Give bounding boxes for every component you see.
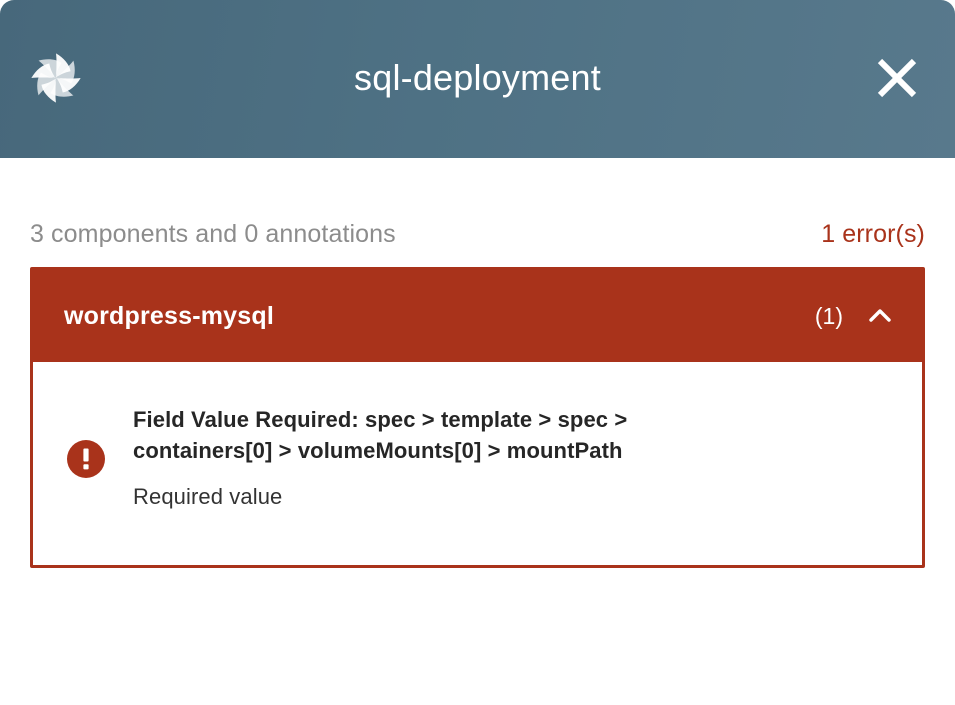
summary-row: 3 components and 0 annotations 1 error(s…	[30, 158, 925, 267]
dialog-content: 3 components and 0 annotations 1 error(s…	[0, 158, 955, 568]
accordion-issue-count: (1)	[815, 303, 843, 330]
validation-accordion: wordpress-mysql (1) Fiel	[30, 267, 925, 568]
chevron-up-icon[interactable]	[865, 301, 895, 331]
accordion-header-wordpress-mysql[interactable]: wordpress-mysql (1)	[33, 270, 922, 362]
error-title: Field Value Required: spec > template > …	[133, 404, 733, 466]
accordion-panel: Field Value Required: spec > template > …	[33, 362, 922, 565]
accordion-resource-name: wordpress-mysql	[64, 302, 815, 331]
error-detail: Required value	[133, 482, 892, 513]
close-x-icon	[874, 55, 920, 101]
error-exclamation-icon	[67, 440, 105, 478]
error-text-block: Field Value Required: spec > template > …	[133, 404, 892, 513]
dialog-titlebar: sql-deployment	[0, 0, 955, 158]
dialog-window: sql-deployment 3 components and 0 annota…	[0, 0, 955, 705]
error-count-label: 1 error(s)	[821, 220, 925, 249]
dialog-title: sql-deployment	[0, 50, 955, 106]
components-summary-label: 3 components and 0 annotations	[30, 220, 396, 249]
close-button[interactable]	[871, 52, 923, 104]
